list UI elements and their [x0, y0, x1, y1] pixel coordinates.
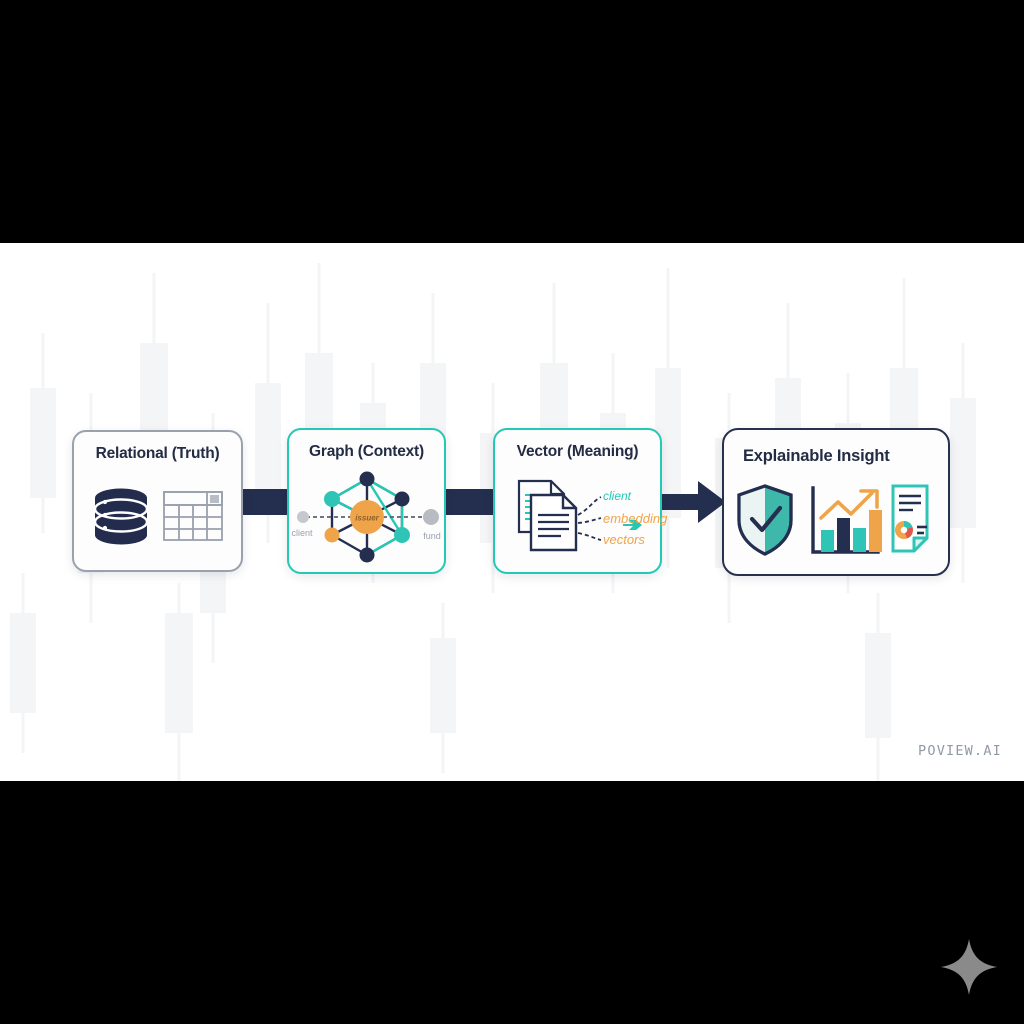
- embedding-term-vectors: vectors: [603, 532, 645, 547]
- card-art-graph: issuer client fund: [289, 461, 444, 572]
- card-art-relational: [74, 463, 241, 570]
- shield-check-icon: [739, 486, 791, 554]
- card-relational[interactable]: Relational (Truth): [72, 430, 243, 572]
- connector-arrow-vector-to-insight: [660, 481, 726, 523]
- documents-icon: client embedding vectors: [505, 475, 651, 559]
- node-graph-icon: issuer client fund: [292, 469, 442, 565]
- connector-relational-to-graph: [240, 489, 292, 515]
- card-title-relational: Relational (Truth): [96, 445, 220, 463]
- graph-center-node-label: issuer: [355, 513, 379, 522]
- table-grid-icon: [164, 492, 222, 540]
- embedding-term-embedding: embedding: [603, 511, 668, 526]
- bar-chart-trend-icon: [813, 488, 882, 552]
- card-title-vector: Vector (Meaning): [517, 443, 639, 461]
- graph-node-label-fund: fund: [423, 531, 441, 541]
- pipeline: Relational (Truth): [0, 0, 1024, 1024]
- report-pie-document-icon: [893, 486, 927, 551]
- card-art-vector: client embedding vectors: [495, 461, 660, 572]
- card-title-insight: Explainable Insight: [743, 447, 890, 466]
- database-cylinder-icon: [95, 488, 147, 544]
- connector-graph-to-vector: [443, 489, 496, 515]
- card-title-graph: Graph (Context): [309, 443, 424, 461]
- graph-node-label-client: client: [291, 528, 313, 538]
- pie-chart-glyph: [895, 521, 913, 539]
- screenshot-root: POVIEW.AI Relational (Truth): [0, 0, 1024, 1024]
- card-vector[interactable]: Vector (Meaning): [493, 428, 662, 574]
- card-art-insight: [724, 466, 948, 574]
- card-insight[interactable]: Explainable Insight: [722, 428, 950, 576]
- embedding-term-client: client: [603, 489, 632, 503]
- card-graph[interactable]: Graph (Context): [287, 428, 446, 574]
- sparkle-icon: [940, 938, 998, 996]
